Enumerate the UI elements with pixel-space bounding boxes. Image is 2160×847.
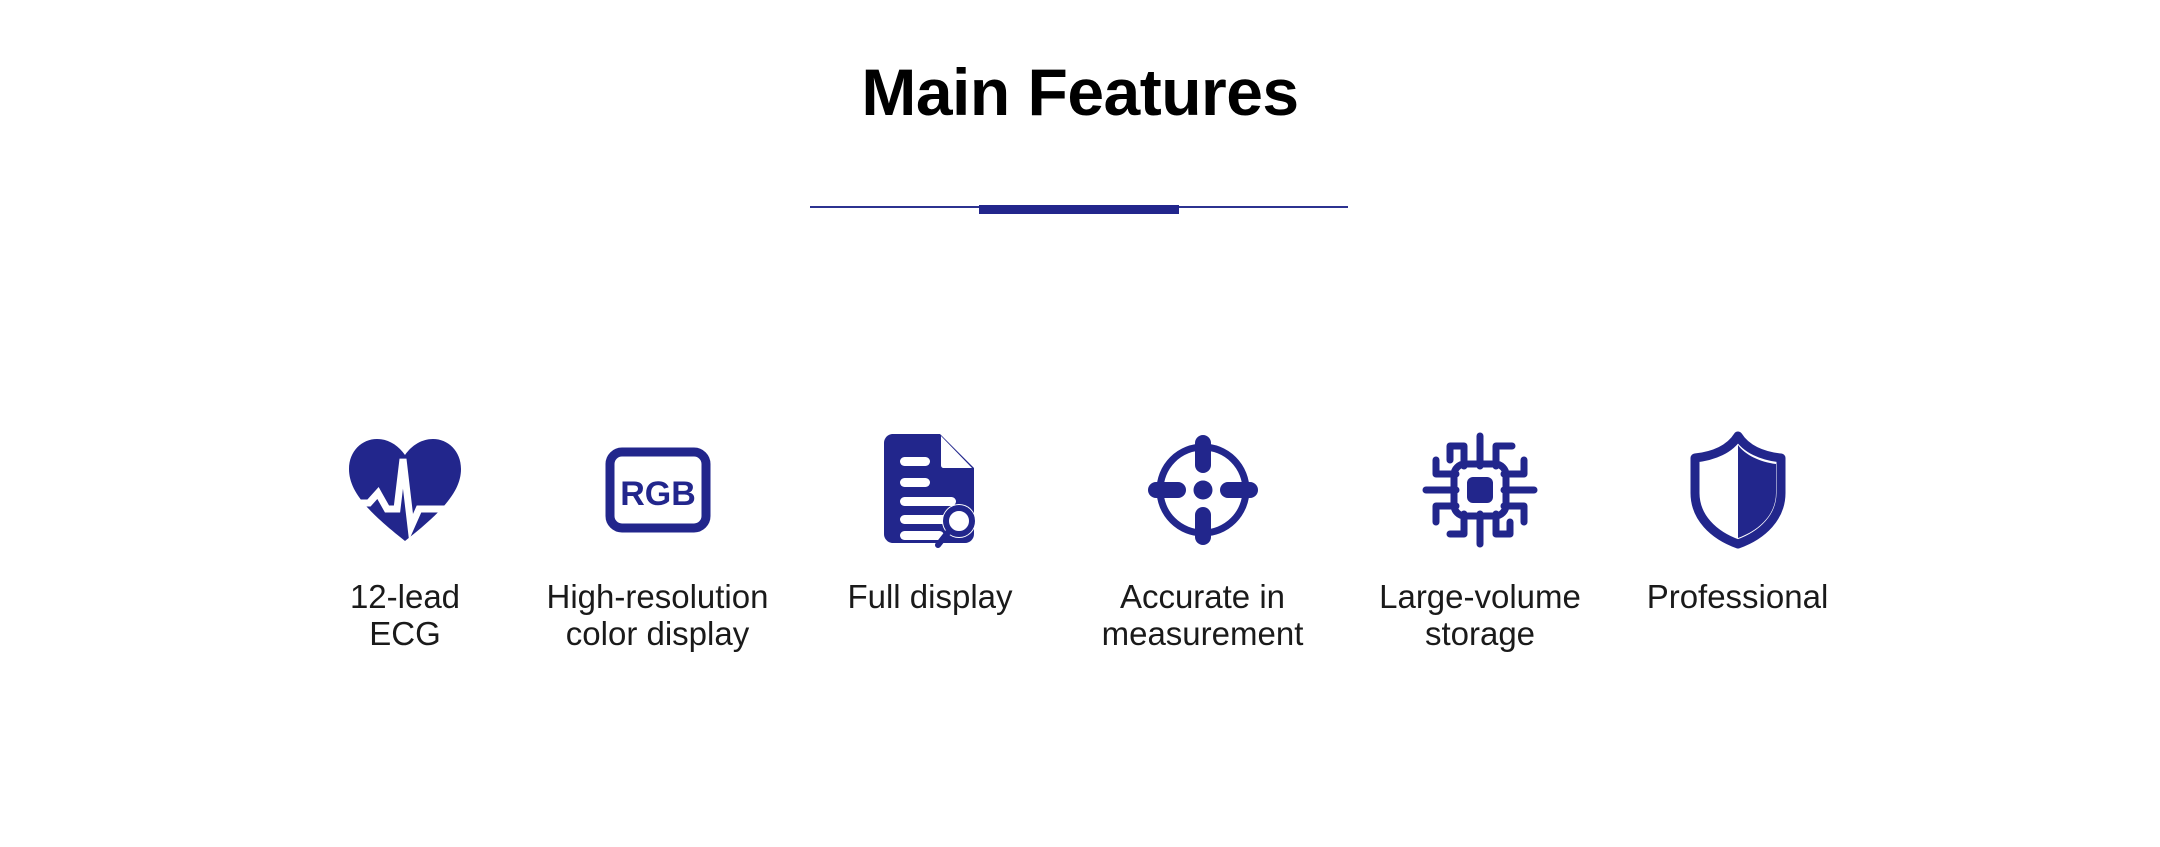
feature-item-professional[interactable]: Professional	[1613, 425, 1863, 616]
feature-item-accurate-in-measurement[interactable]: Accurate in measurement	[1058, 425, 1348, 653]
feature-label: Professional	[1647, 579, 1829, 616]
crosshair-target-icon	[1144, 425, 1262, 555]
heart-ecg-icon	[345, 425, 465, 555]
svg-text:RGB: RGB	[620, 475, 696, 513]
rgb-display-icon: RGB	[605, 425, 711, 555]
divider-accent-bar	[979, 205, 1179, 214]
title-block: Main Features	[0, 58, 2160, 127]
feature-list: 12-lead ECG RGB High-resolution color di…	[0, 425, 2160, 653]
feature-item-large-volume-storage[interactable]: Large-volume storage	[1348, 425, 1613, 653]
document-search-icon	[878, 425, 982, 555]
page-title: Main Features	[0, 58, 2160, 127]
section-divider	[810, 205, 1348, 209]
feature-item-full-display[interactable]: Full display	[803, 425, 1058, 616]
features-section: Main Features 12-lead ECG RGB	[0, 0, 2160, 847]
feature-label: Accurate in measurement	[1102, 579, 1304, 653]
feature-item-high-resolution-color-display[interactable]: RGB High-resolution color display	[513, 425, 803, 653]
feature-label: High-resolution color display	[547, 579, 769, 653]
feature-label: Large-volume storage	[1379, 579, 1581, 653]
feature-label: 12-lead ECG	[350, 579, 460, 653]
feature-label: Full display	[847, 579, 1012, 616]
shield-icon	[1688, 425, 1788, 555]
feature-item-12-lead-ecg[interactable]: 12-lead ECG	[298, 425, 513, 653]
cpu-chip-icon	[1420, 425, 1540, 555]
